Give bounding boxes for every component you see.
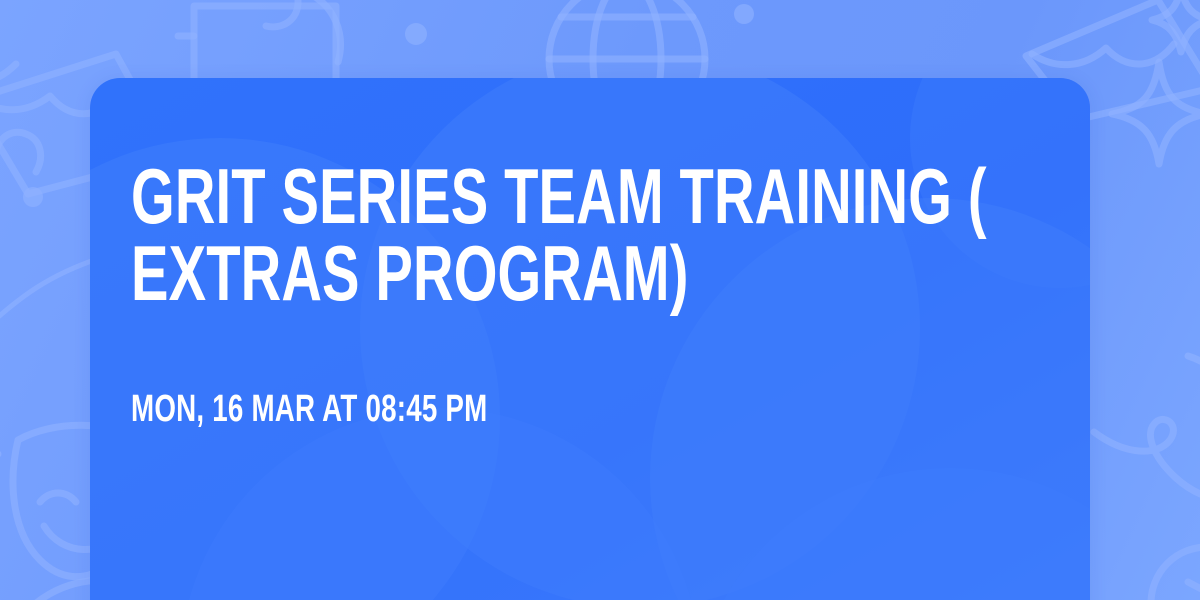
sparkle-icon (1104, 52, 1200, 172)
dot-icon (16, 180, 50, 214)
dot-icon (726, 0, 762, 32)
event-date: MON, 16 MAR AT 08:45 PM (131, 390, 788, 428)
decor-circle (180, 408, 700, 600)
sparkle-icon (1146, 0, 1200, 58)
decor-circle (690, 468, 1090, 600)
event-title: GRIT SERIES TEAM TRAINING ( EXTRAS PROGR… (131, 158, 1067, 312)
dot-icon (396, 14, 436, 54)
event-card-content: GRIT SERIES TEAM TRAINING ( EXTRAS PROGR… (90, 78, 1090, 428)
ribbon-icon (1092, 392, 1200, 572)
event-banner: GRIT SERIES TEAM TRAINING ( EXTRAS PROGR… (0, 0, 1200, 600)
circle-icon (1132, 528, 1200, 600)
event-card[interactable]: GRIT SERIES TEAM TRAINING ( EXTRAS PROGR… (90, 78, 1090, 600)
